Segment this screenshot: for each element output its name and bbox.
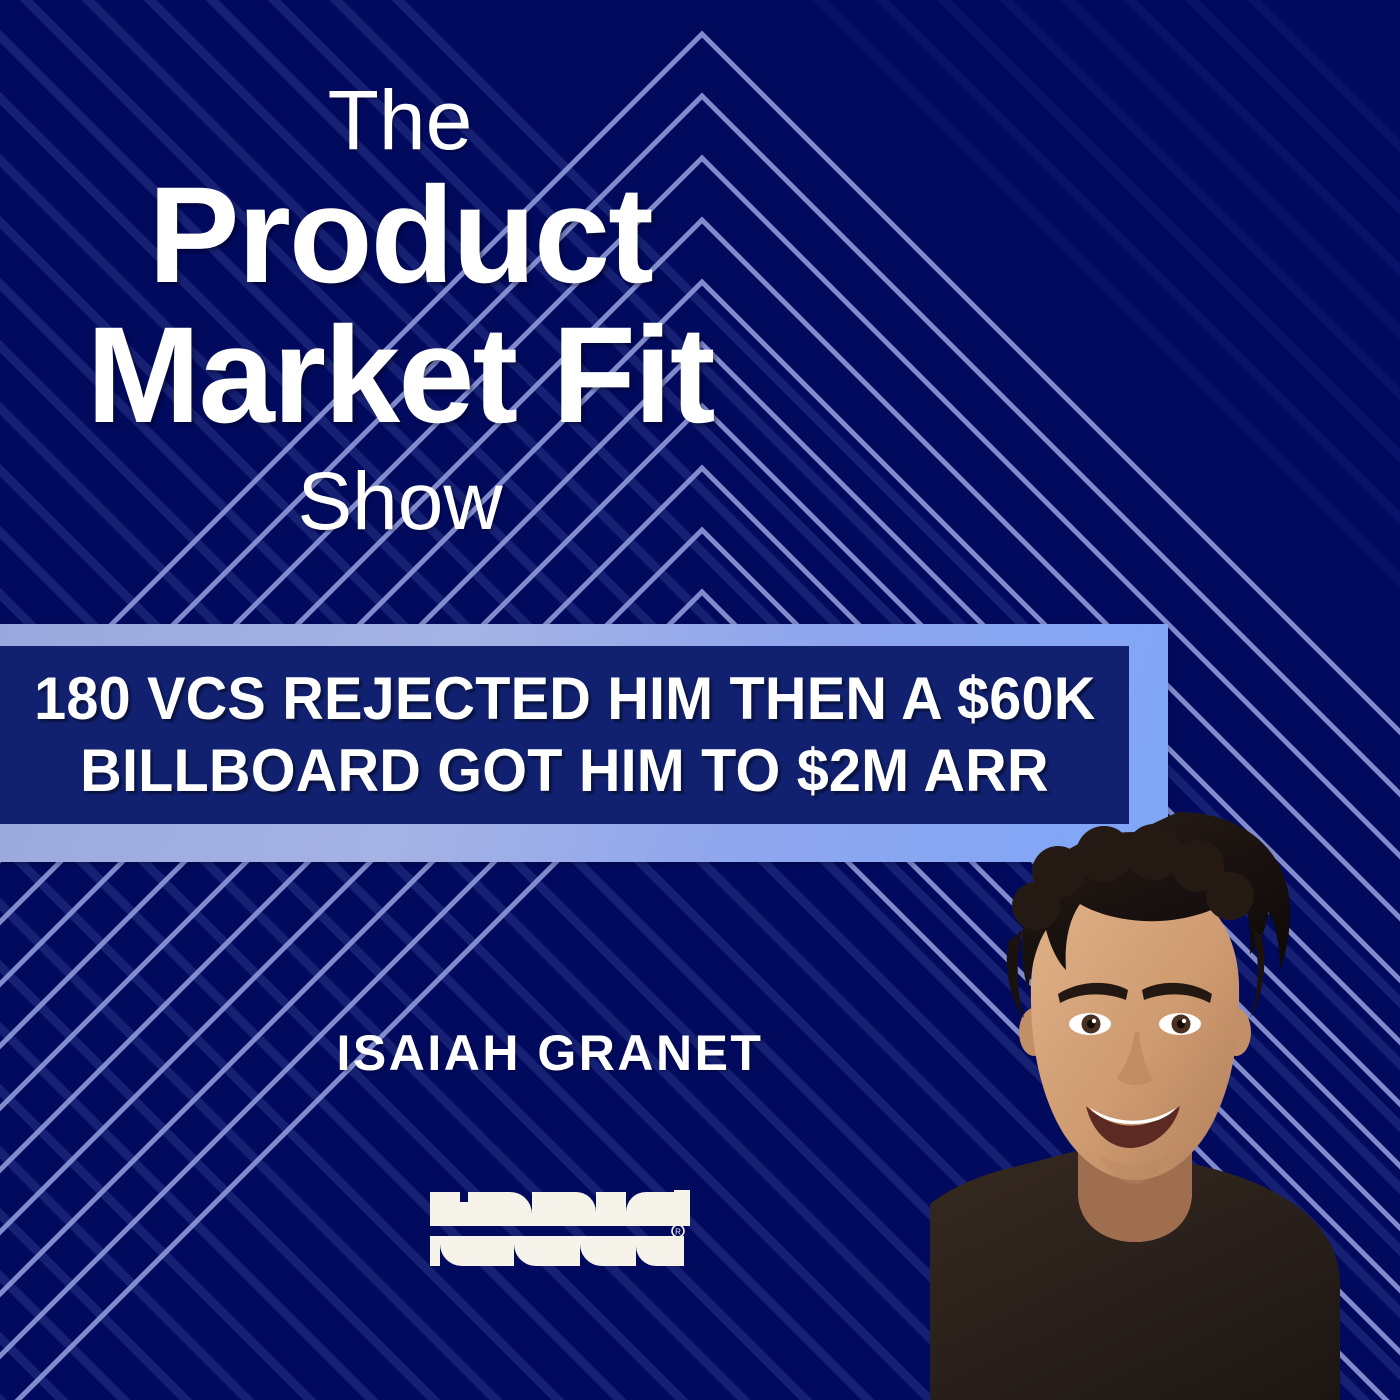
podcast-cover-art: The Product Market Fit Show 180 VCS REJE…	[0, 0, 1400, 1400]
blend-logo: R	[426, 1190, 694, 1272]
show-title-line-2: Market Fit	[0, 304, 800, 448]
show-title-block: The Product Market Fit Show	[0, 78, 800, 545]
guest-name: ISAIAH GRANET	[0, 1024, 1100, 1082]
show-title-line-1: Product	[0, 164, 800, 308]
episode-title-banner: 180 VCS REJECTED HIM THEN A $60K BILLBOA…	[0, 624, 1168, 862]
episode-title-line-2: BILLBOARD GOT HIM TO $2M ARR	[80, 735, 1049, 807]
show-title-suffix: Show	[0, 459, 800, 545]
episode-title-line-1: 180 VCS REJECTED HIM THEN A $60K	[34, 663, 1095, 735]
registered-trademark-icon: R	[672, 1225, 684, 1237]
svg-text:R: R	[675, 1227, 681, 1236]
show-title-prefix: The	[0, 78, 800, 164]
episode-title-banner-inner: 180 VCS REJECTED HIM THEN A $60K BILLBOA…	[0, 646, 1129, 824]
